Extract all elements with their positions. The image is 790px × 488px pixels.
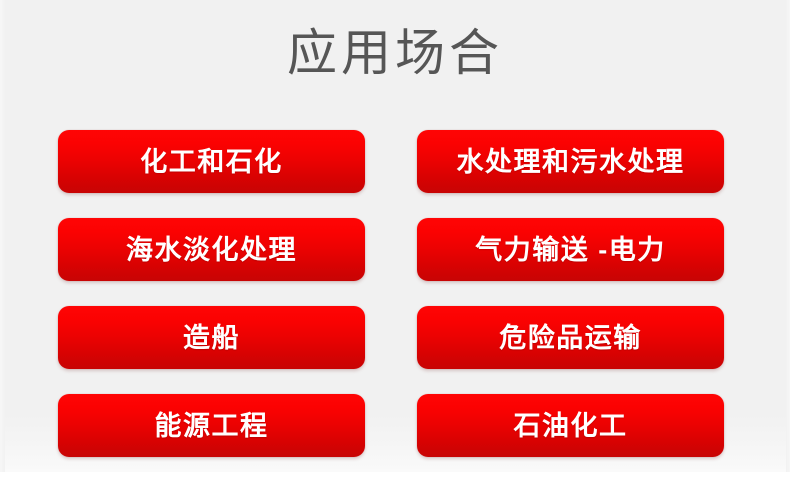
scenario-button-seawater-desalination[interactable]: 海水淡化处理 [58, 218, 365, 281]
scenario-button-label: 水处理和污水处理 [457, 147, 685, 177]
scenario-button-energy-engineering[interactable]: 能源工程 [58, 394, 365, 457]
scenario-button-label: 造船 [183, 323, 240, 353]
scenario-button-label: 能源工程 [155, 411, 269, 441]
scenario-button-grid: 化工和石化 水处理和污水处理 海水淡化处理 气力输送 -电力 造船 危险品运输 … [58, 130, 724, 457]
scenario-button-chemical-petrochemical[interactable]: 化工和石化 [58, 130, 365, 193]
scenario-button-label: 气力输送 -电力 [475, 235, 666, 265]
scenario-button-pneumatic-conveying-power[interactable]: 气力输送 -电力 [417, 218, 724, 281]
application-scenarios-banner: 应用场合 化工和石化 水处理和污水处理 海水淡化处理 气力输送 -电力 造船 危… [0, 0, 790, 488]
scenario-button-label: 危险品运输 [499, 323, 642, 353]
scenario-button-label: 石油化工 [514, 411, 628, 441]
scenario-button-hazardous-goods-transport[interactable]: 危险品运输 [417, 306, 724, 369]
scenario-button-shipbuilding[interactable]: 造船 [58, 306, 365, 369]
scenario-button-label: 海水淡化处理 [126, 235, 297, 265]
scenario-button-water-wastewater-treatment[interactable]: 水处理和污水处理 [417, 130, 724, 193]
scenario-button-petrochemical[interactable]: 石油化工 [417, 394, 724, 457]
scenario-button-label: 化工和石化 [140, 147, 283, 177]
page-title: 应用场合 [0, 22, 790, 84]
